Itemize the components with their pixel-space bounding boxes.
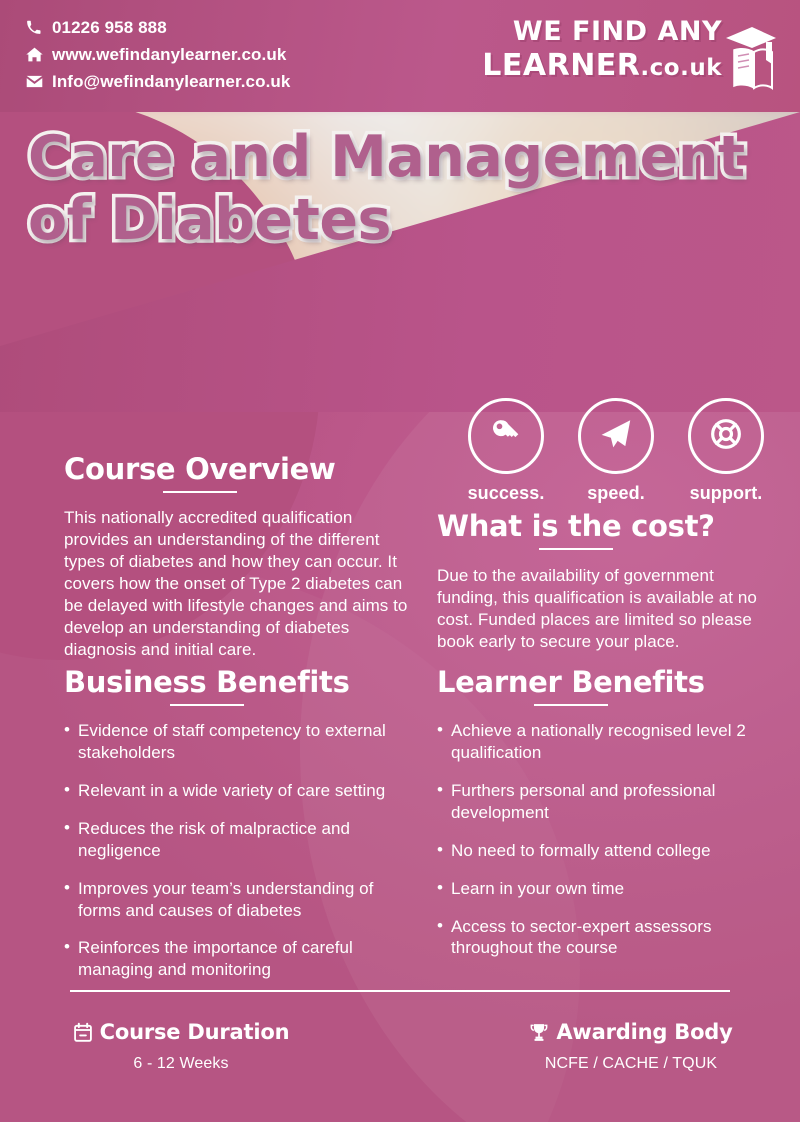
course-poster: 01226 958 888 www.wefindanylearner.co.uk… bbox=[0, 0, 800, 1122]
pillar-support-label: support. bbox=[686, 483, 766, 504]
business-benefits-list: Evidence of staff competency to external… bbox=[64, 720, 414, 981]
awarding-body-value: NCFE / CACHE / TQUK bbox=[506, 1055, 756, 1073]
awarding-body-label: Awarding Body bbox=[556, 1020, 732, 1044]
course-overview-section: Course Overview This nationally accredit… bbox=[64, 455, 414, 660]
footer-divider bbox=[70, 990, 730, 992]
course-duration-value: 6 - 12 Weeks bbox=[56, 1055, 306, 1073]
awarding-body-heading: Awarding Body bbox=[506, 1020, 756, 1044]
business-benefits-heading: Business Benefits bbox=[64, 668, 350, 706]
pillar-support-circle bbox=[688, 398, 764, 474]
key-icon bbox=[489, 417, 523, 456]
list-item: Furthers personal and professional devel… bbox=[437, 780, 767, 824]
learner-benefits-list: Achieve a nationally recognised level 2 … bbox=[437, 720, 767, 959]
course-overview-text: This nationally accredited qualification… bbox=[64, 507, 414, 660]
course-duration-block: Course Duration 6 - 12 Weeks bbox=[56, 1020, 306, 1073]
pillars: success. speed. bbox=[466, 398, 766, 504]
pillar-success-circle bbox=[468, 398, 544, 474]
list-item: Reduces the risk of malpractice and negl… bbox=[64, 818, 414, 862]
course-duration-heading: Course Duration bbox=[56, 1020, 306, 1044]
business-benefits-section: Business Benefits Evidence of staff comp… bbox=[64, 668, 414, 997]
pillar-speed: speed. bbox=[576, 398, 656, 504]
awarding-body-block: Awarding Body NCFE / CACHE / TQUK bbox=[506, 1020, 756, 1073]
pillar-speed-label: speed. bbox=[576, 483, 656, 504]
cost-text: Due to the availability of government fu… bbox=[437, 565, 767, 653]
list-item: Relevant in a wide variety of care setti… bbox=[64, 780, 414, 802]
pillar-success-label: success. bbox=[466, 483, 546, 504]
list-item: Reinforces the importance of careful man… bbox=[64, 937, 414, 981]
poster-content: success. speed. bbox=[0, 0, 800, 1122]
list-item: Evidence of staff competency to external… bbox=[64, 720, 414, 764]
list-item: Access to sector-expert assessors throug… bbox=[437, 916, 767, 960]
course-duration-label: Course Duration bbox=[100, 1020, 290, 1044]
course-overview-heading: Course Overview bbox=[64, 455, 336, 493]
pillar-support: support. bbox=[686, 398, 766, 504]
learner-benefits-heading: Learner Benefits bbox=[437, 668, 705, 706]
paper-plane-icon bbox=[598, 416, 634, 457]
cost-section: What is the cost? Due to the availabilit… bbox=[437, 512, 767, 653]
cost-heading: What is the cost? bbox=[437, 512, 715, 550]
list-item: Achieve a nationally recognised level 2 … bbox=[437, 720, 767, 764]
list-item: No need to formally attend college bbox=[437, 840, 767, 862]
learner-benefits-section: Learner Benefits Achieve a nationally re… bbox=[437, 668, 767, 975]
life-ring-icon bbox=[710, 418, 742, 455]
trophy-icon bbox=[529, 1022, 549, 1043]
list-item: Learn in your own time bbox=[437, 878, 767, 900]
pillar-success: success. bbox=[466, 398, 546, 504]
pillar-speed-circle bbox=[578, 398, 654, 474]
list-item: Improves your team’s understanding of fo… bbox=[64, 878, 414, 922]
calendar-icon bbox=[73, 1022, 93, 1043]
